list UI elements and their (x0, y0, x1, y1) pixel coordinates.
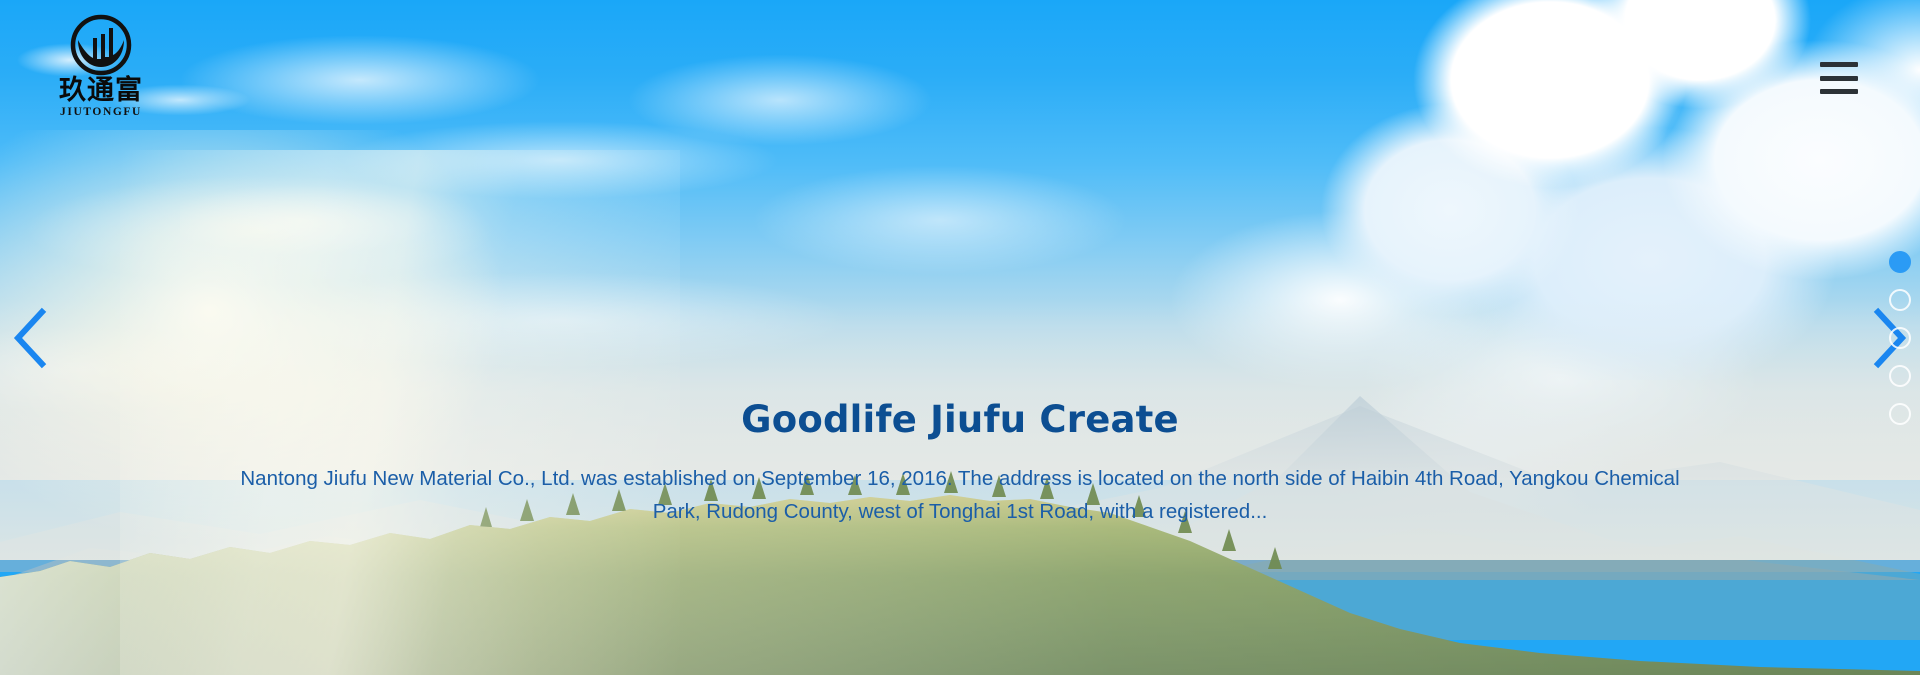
slider-pagination (1889, 251, 1911, 425)
slide-title: Goodlife Jiufu Create (110, 398, 1810, 441)
slider-dot-2[interactable] (1889, 289, 1911, 311)
slider-dot-1[interactable] (1889, 251, 1911, 273)
slide-description: Nantong Jiufu New Material Co., Ltd. was… (225, 463, 1695, 529)
hamburger-menu-icon[interactable] (1820, 60, 1860, 96)
hamburger-bar-middle (1820, 76, 1858, 81)
hamburger-bar-top (1820, 62, 1858, 67)
chevron-left-icon (4, 302, 60, 374)
slider-dot-4[interactable] (1889, 365, 1911, 387)
hamburger-bar-bottom (1820, 89, 1858, 94)
site-logo[interactable]: 玖通富 JIUTONGFU (36, 14, 166, 122)
logo-text-cn: 玖通富 (59, 77, 143, 104)
logo-text-en: JIUTONGFU (60, 107, 142, 119)
jiutongfu-emblem-icon (65, 14, 137, 76)
slide-caption: Goodlife Jiufu Create Nantong Jiufu New … (0, 398, 1920, 529)
slider-dot-5[interactable] (1889, 403, 1911, 425)
slider-prev-button[interactable] (4, 302, 60, 374)
slider-dot-3[interactable] (1889, 327, 1911, 349)
hero-slider: 玖通富 JIUTONGFU Goodlife Jiufu Create Nant… (0, 0, 1920, 675)
